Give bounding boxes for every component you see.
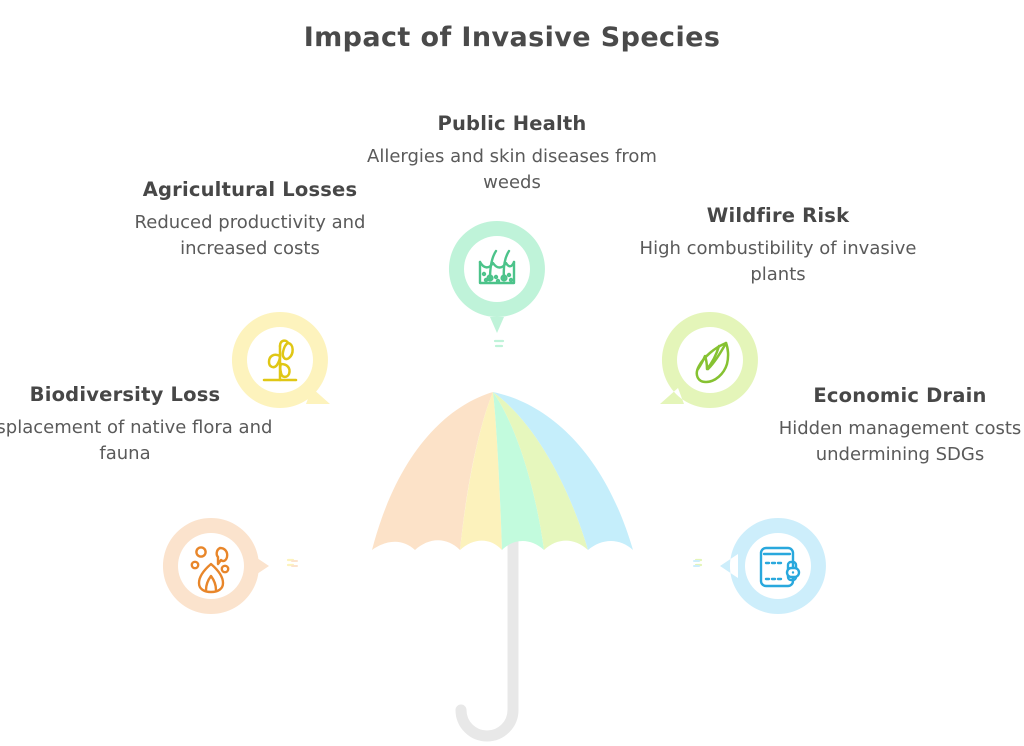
node-wildfire-risk-text: Wildfire Risk High combustibility of inv… bbox=[628, 204, 928, 287]
node-label: Biodiversity Loss bbox=[0, 383, 275, 406]
node-agricultural-losses-text: Agricultural Losses Reduced productivity… bbox=[100, 178, 400, 261]
infographic-canvas: Impact of Invasive Species Public Health… bbox=[0, 0, 1024, 746]
umbrella-handle bbox=[461, 540, 513, 736]
bubble-public-health[interactable] bbox=[449, 221, 545, 317]
node-label: Agricultural Losses bbox=[100, 178, 400, 201]
bubble-wildfire-risk[interactable] bbox=[662, 312, 758, 408]
sparkle-mark-public-health bbox=[492, 337, 506, 353]
node-label: Wildfire Risk bbox=[628, 204, 928, 227]
bubble-inner bbox=[745, 533, 811, 599]
bubble-biodiversity-loss[interactable] bbox=[163, 518, 259, 614]
bubble-inner bbox=[464, 236, 530, 302]
node-description: Reduced productivity and increased costs bbox=[100, 210, 400, 261]
node-economic-drain-text: Economic Drain Hidden management costs u… bbox=[750, 384, 1024, 467]
node-description: Displacement of native flora and fauna bbox=[0, 415, 275, 466]
node-public-health-text: Public Health Allergies and skin disease… bbox=[362, 112, 662, 195]
node-label: Economic Drain bbox=[750, 384, 1024, 407]
node-description: Hidden management costs undermining SDGs bbox=[750, 416, 1024, 467]
node-biodiversity-loss-text: Biodiversity Loss Displacement of native… bbox=[0, 383, 275, 466]
node-label: Public Health bbox=[362, 112, 662, 135]
bubble-inner bbox=[677, 327, 743, 393]
bubble-economic-drain[interactable] bbox=[730, 518, 826, 614]
sparkle-mark-biodiversity bbox=[289, 558, 301, 570]
umbrella-canopy bbox=[372, 392, 633, 550]
node-description: High combustibility of invasive plants bbox=[628, 236, 928, 287]
node-description: Allergies and skin diseases from weeds bbox=[362, 144, 662, 195]
sparkle-mark-economic bbox=[691, 558, 703, 570]
page-title: Impact of Invasive Species bbox=[0, 22, 1024, 53]
bubble-inner bbox=[178, 533, 244, 599]
umbrella-graphic bbox=[320, 380, 710, 746]
